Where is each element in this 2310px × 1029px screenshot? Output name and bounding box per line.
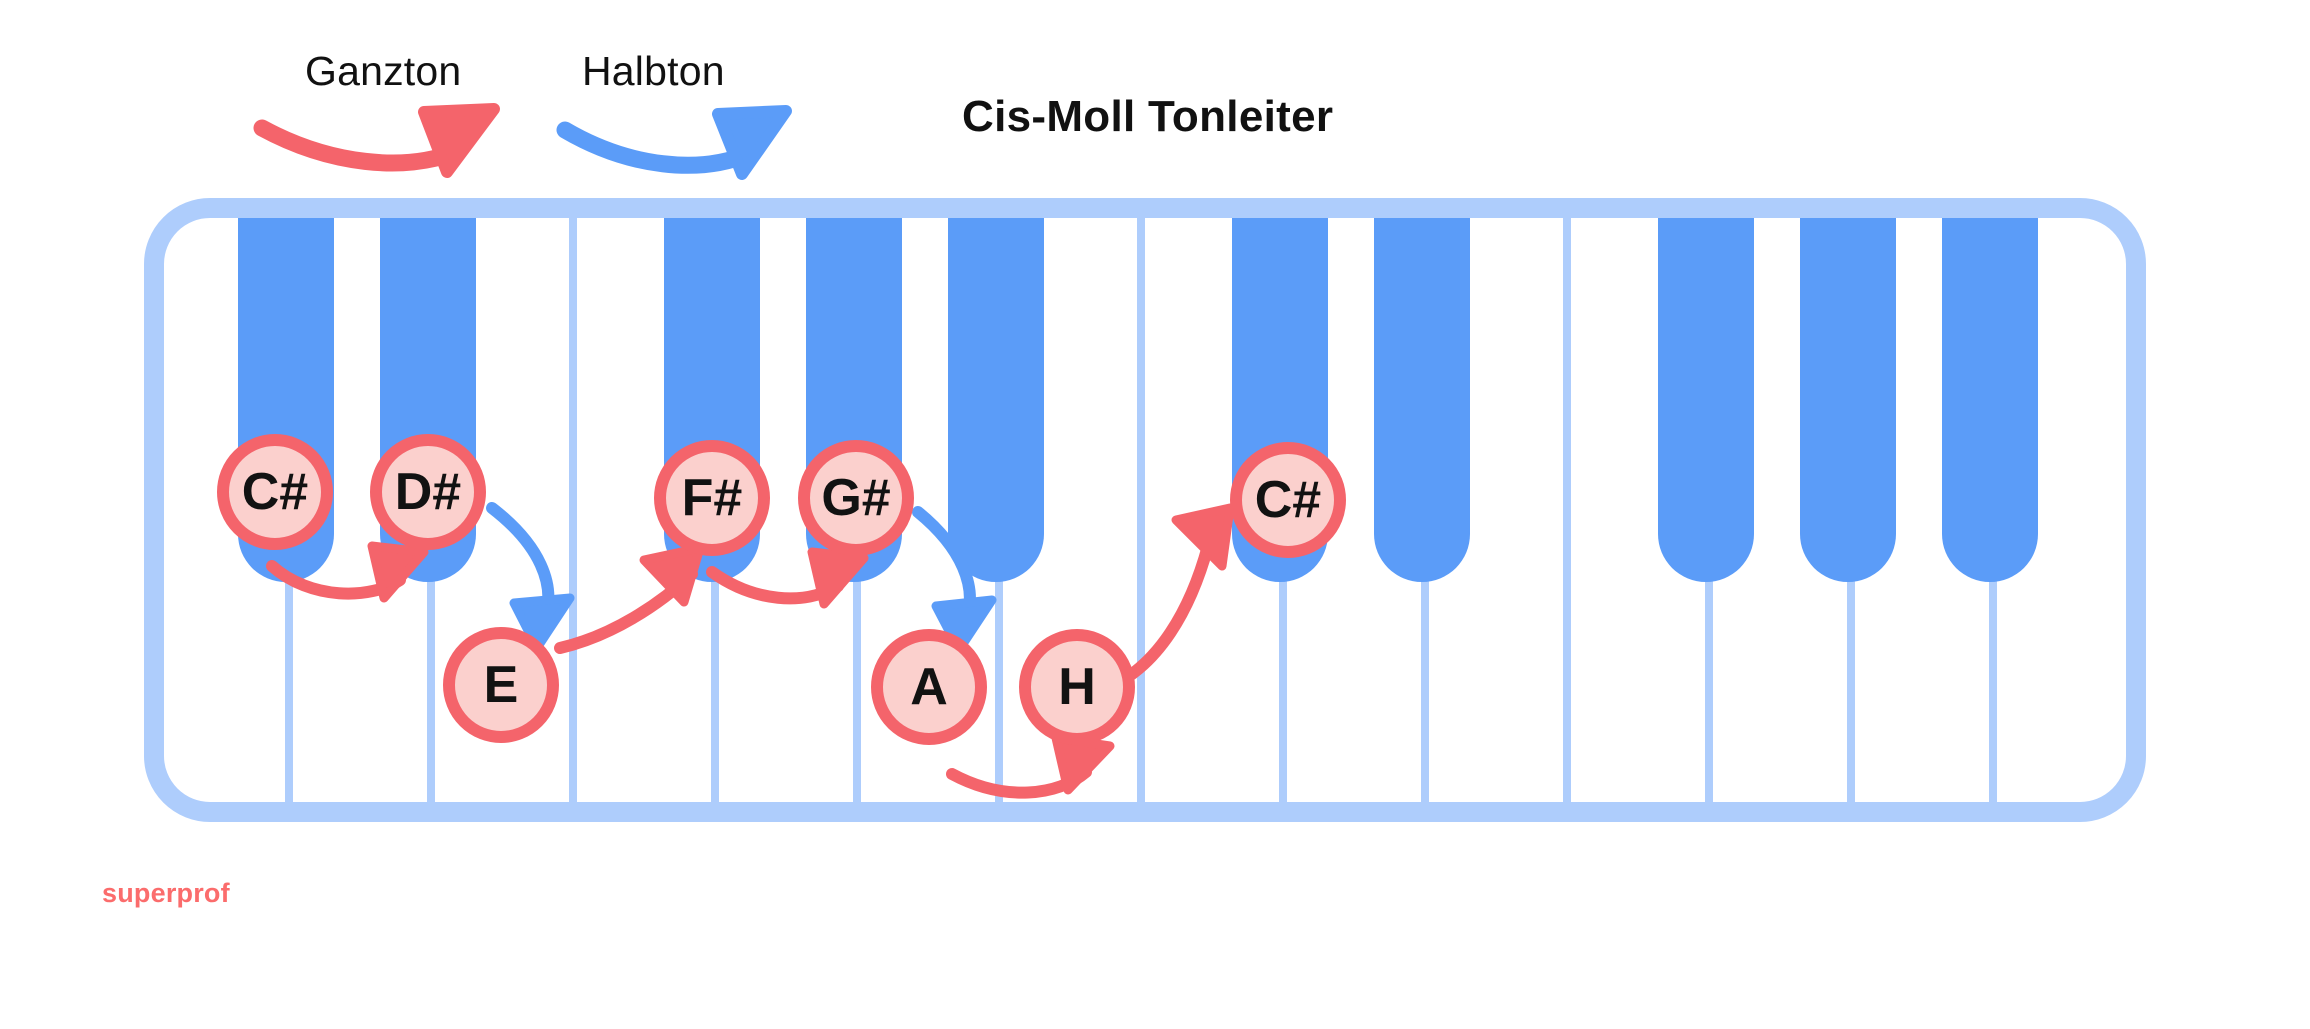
black-key-a-sharp-1[interactable] bbox=[948, 208, 1044, 582]
black-key-d-sharp-2[interactable] bbox=[1374, 208, 1470, 582]
legend-arrow-ganzton bbox=[262, 109, 494, 172]
piano-scale-diagram: C# D# E F# G# A bbox=[0, 0, 2310, 1029]
note-label: A bbox=[910, 658, 948, 716]
black-key-a-sharp-2[interactable] bbox=[1942, 208, 2038, 582]
white-key-divider bbox=[569, 208, 577, 812]
black-key-f-sharp-2[interactable] bbox=[1658, 208, 1754, 582]
legend-arrow-halbton bbox=[565, 111, 786, 174]
note-marker-fs[interactable]: F# bbox=[660, 446, 764, 550]
white-key-divider bbox=[1563, 208, 1571, 812]
note-label: F# bbox=[682, 469, 743, 527]
note-marker-e[interactable]: E bbox=[449, 633, 553, 737]
note-marker-h[interactable]: H bbox=[1025, 635, 1129, 739]
white-key-divider bbox=[1137, 208, 1145, 812]
note-label: E bbox=[484, 656, 519, 714]
note-label: D# bbox=[395, 463, 462, 521]
note-marker-cs-low[interactable]: C# bbox=[223, 440, 327, 544]
note-label: C# bbox=[1255, 471, 1322, 529]
note-label: C# bbox=[242, 463, 309, 521]
note-marker-ds[interactable]: D# bbox=[376, 440, 480, 544]
note-marker-gs[interactable]: G# bbox=[804, 446, 908, 550]
note-label: H bbox=[1058, 658, 1096, 716]
note-marker-cs-high[interactable]: C# bbox=[1236, 448, 1340, 552]
diagram-canvas: Ganzton Halbton Cis-Moll Tonleiter bbox=[0, 0, 2310, 1029]
superprof-logo[interactable]: superprof bbox=[102, 878, 230, 909]
note-marker-a[interactable]: A bbox=[877, 635, 981, 739]
note-label: G# bbox=[821, 469, 890, 527]
black-key-g-sharp-2[interactable] bbox=[1800, 208, 1896, 582]
